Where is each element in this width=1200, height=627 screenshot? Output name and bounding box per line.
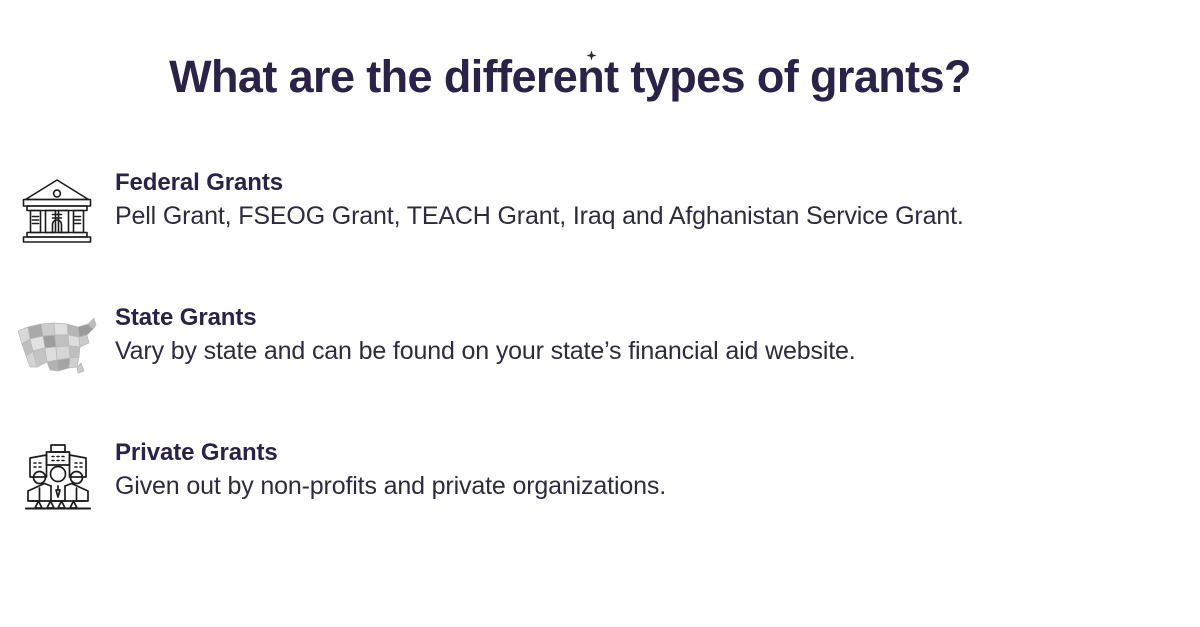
text-cell-private: Private Grants Given out by non-profits … [115, 438, 1200, 503]
list-item-federal-grants: Federal Grants Pell Grant, FSEOG Grant, … [0, 168, 1200, 303]
usa-map-icon [14, 315, 102, 377]
item-description-state: Vary by state and can be found on your s… [115, 335, 1200, 368]
title-block: What are the different types of grants? [0, 52, 1140, 102]
text-cell-federal: Federal Grants Pell Grant, FSEOG Grant, … [115, 168, 1200, 233]
list-item-state-grants: State Grants Vary by state and can be fo… [0, 303, 1200, 438]
grant-types-list: Federal Grants Pell Grant, FSEOG Grant, … [0, 168, 1200, 573]
item-heading-state: State Grants [115, 303, 1200, 333]
organization-people-icon [22, 442, 94, 514]
item-heading-private: Private Grants [115, 438, 1200, 468]
icon-cell-state [0, 303, 115, 377]
item-description-private: Given out by non-profits and private org… [115, 470, 1200, 503]
sparkle-diamond-icon [586, 50, 597, 61]
list-item-private-grants: Private Grants Given out by non-profits … [0, 438, 1200, 573]
text-cell-state: State Grants Vary by state and can be fo… [115, 303, 1200, 368]
icon-cell-federal [0, 168, 115, 246]
slide-canvas: What are the different types of grants? [0, 0, 1200, 627]
item-description-federal: Pell Grant, FSEOG Grant, TEACH Grant, Ir… [115, 200, 1200, 233]
federal-building-icon [18, 176, 96, 246]
page-title: What are the different types of grants? [0, 52, 1140, 102]
item-heading-federal: Federal Grants [115, 168, 1200, 198]
icon-cell-private [0, 438, 115, 514]
